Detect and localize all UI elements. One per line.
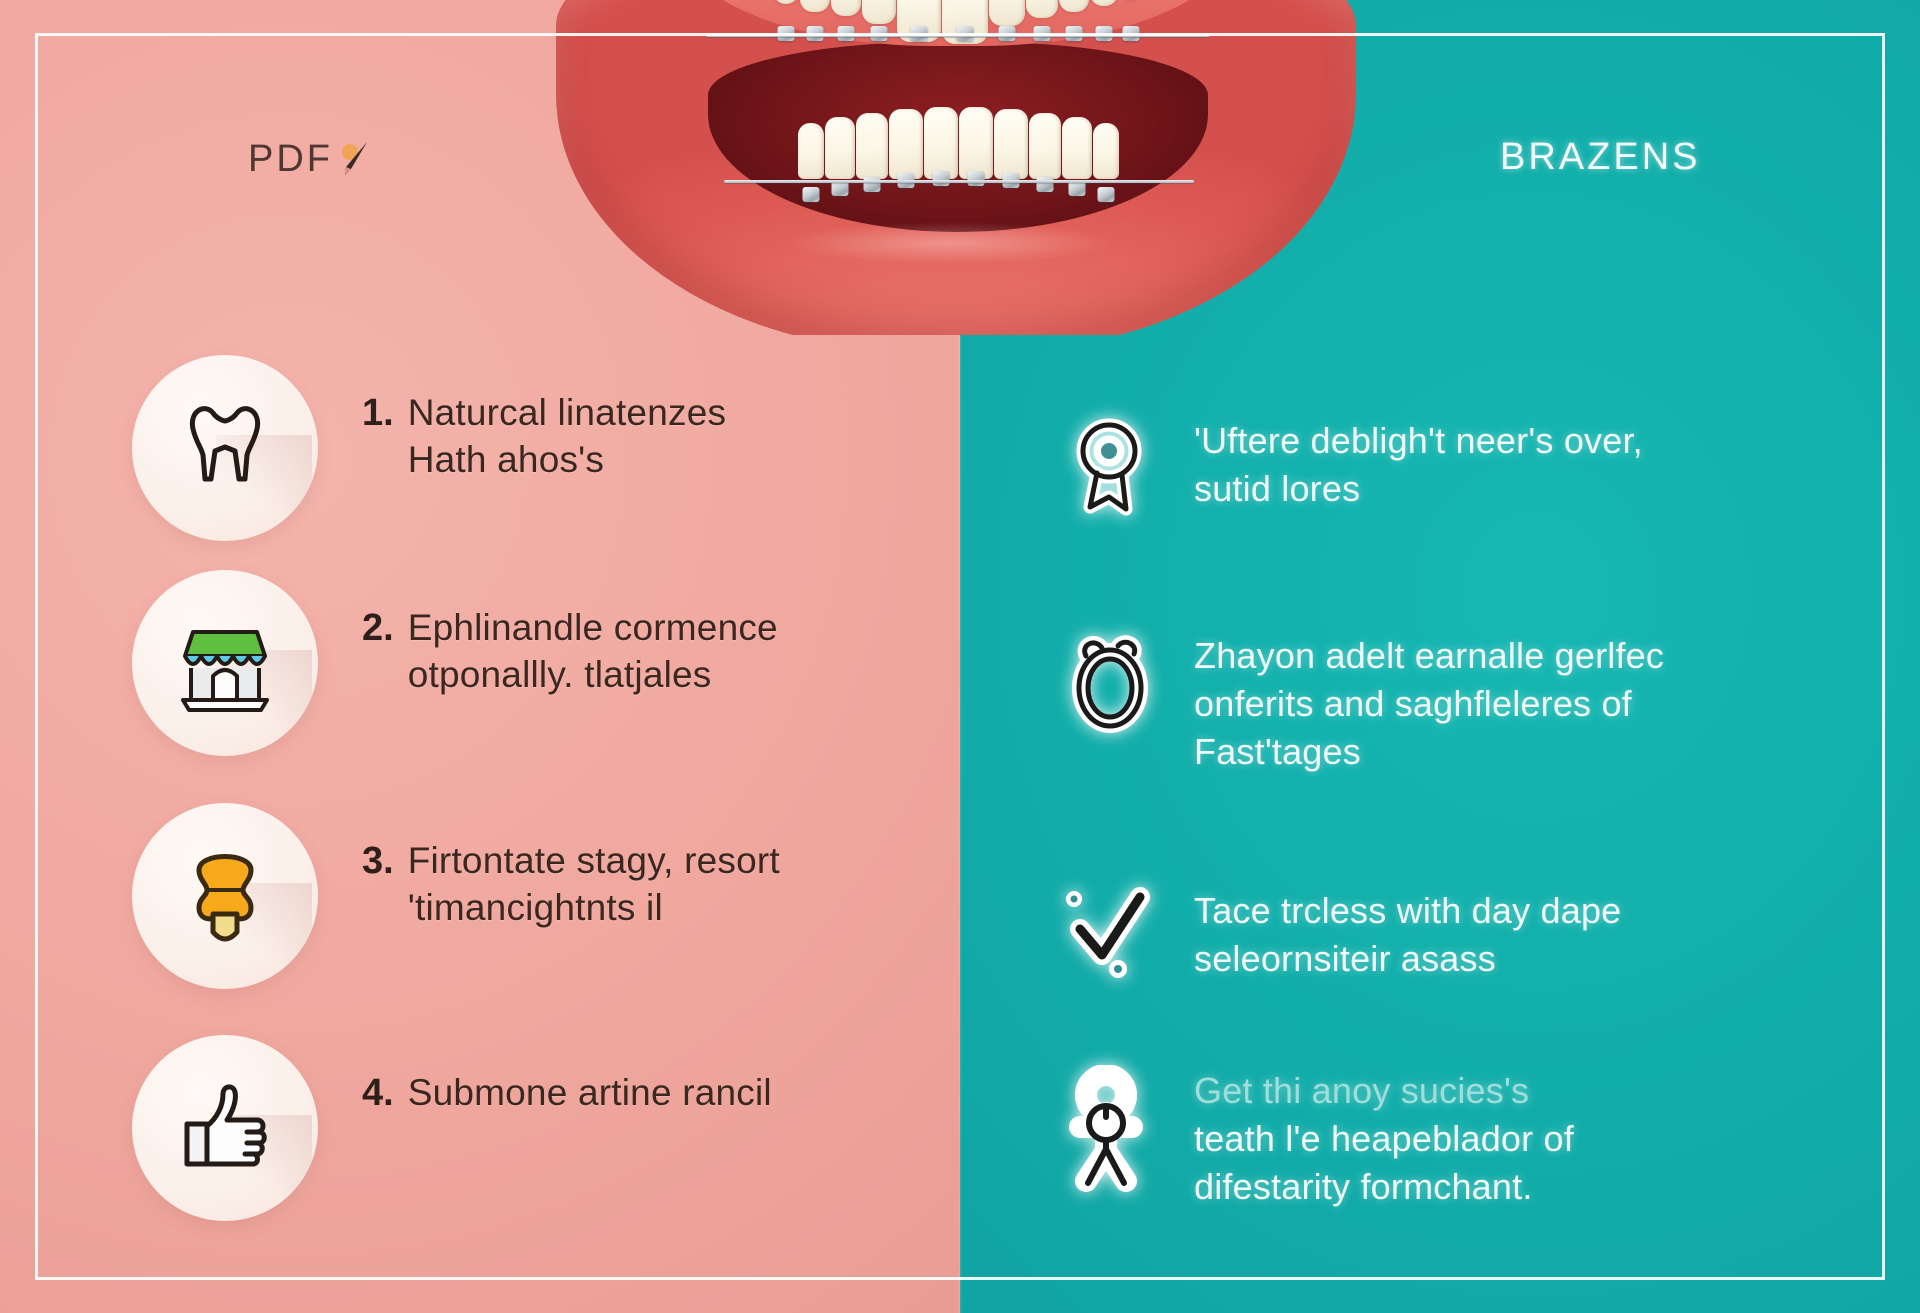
list-item: Zhayon adelt earnalle gerlfec onferits a… bbox=[1062, 630, 1664, 776]
tooth bbox=[1029, 113, 1061, 179]
icon-wrapper bbox=[1062, 415, 1162, 525]
list-item-text: Zhayon adelt earnalle gerlfec onferits a… bbox=[1194, 632, 1664, 776]
page-title-right: BRAZENS bbox=[1500, 136, 1700, 179]
award-ribbon-icon bbox=[1064, 415, 1160, 519]
braces-bracket-icon bbox=[802, 187, 819, 202]
icon-badge bbox=[132, 570, 318, 756]
braces-bracket-icon bbox=[1097, 187, 1114, 202]
icon-wrapper bbox=[1062, 630, 1162, 740]
braces-bracket-icon bbox=[932, 171, 949, 186]
tooth bbox=[1090, 0, 1118, 6]
tooth bbox=[1062, 117, 1092, 179]
list-item: 2. Ephlinandle cormence otponallly. tlat… bbox=[132, 570, 778, 756]
tooth bbox=[1059, 0, 1089, 12]
tooth bbox=[959, 107, 993, 179]
molar-tooth-icon bbox=[175, 395, 275, 501]
storefront-icon bbox=[173, 608, 277, 718]
tooth bbox=[924, 107, 958, 179]
list-item: 'Uftere debligh't neer's over, sutid lor… bbox=[1062, 415, 1643, 525]
teeth-with-braces-photo bbox=[556, 0, 1356, 335]
braces-bracket-icon bbox=[831, 181, 848, 196]
tooth bbox=[1093, 123, 1119, 179]
tooth bbox=[800, 0, 830, 12]
tooth bbox=[989, 0, 1025, 26]
list-item-number: 3. bbox=[362, 837, 394, 886]
list-item-number: 2. bbox=[362, 604, 394, 653]
tooth bbox=[831, 0, 861, 16]
tooth bbox=[856, 113, 888, 179]
page-title-left: PDF bbox=[248, 138, 333, 181]
list-item: Tace trcless with day dape seleornsiteir… bbox=[1062, 885, 1621, 995]
tooth bbox=[825, 117, 855, 179]
tooth-crown-icon bbox=[175, 840, 275, 952]
list-item: Get thi anoy sucies's teath l'e heapebla… bbox=[1062, 1065, 1574, 1211]
icon-badge bbox=[132, 1035, 318, 1221]
infographic-poster: PDF BRAZENS 1. Naturcal linatenzes Hath … bbox=[0, 0, 1920, 1313]
list-item: 1. Naturcal linatenzes Hath ahos's bbox=[132, 355, 726, 541]
tooth bbox=[942, 0, 988, 44]
list-item: 4. Submone artine rancil bbox=[132, 1035, 772, 1221]
thumbs-up-icon bbox=[173, 1076, 277, 1180]
list-item-text: 'Uftere debligh't neer's over, sutid lor… bbox=[1194, 417, 1643, 513]
icon-badge bbox=[132, 803, 318, 989]
list-item-text: Naturcal linatenzes Hath ahos's bbox=[408, 389, 726, 484]
list-item-number: 1. bbox=[362, 389, 394, 438]
tooth bbox=[889, 109, 923, 179]
list-item-text: Submone artine rancil bbox=[408, 1069, 772, 1116]
list-item: 3. Firtontate stagy, resort 'timancightn… bbox=[132, 803, 780, 989]
list-item-text: Ephlinandle cormence otponallly. tlatjal… bbox=[408, 604, 778, 699]
checkmark-icon bbox=[1064, 885, 1160, 985]
icon-badge bbox=[132, 355, 318, 541]
tooth bbox=[798, 123, 824, 179]
tooth bbox=[862, 0, 896, 24]
braces-bracket-icon bbox=[967, 171, 984, 186]
list-item-text: Get thi anoy sucies's teath l'e heapebla… bbox=[1194, 1067, 1574, 1211]
list-item-number: 4. bbox=[362, 1069, 394, 1118]
list-item-text: Tace trcless with day dape seleornsiteir… bbox=[1194, 887, 1621, 983]
tooth bbox=[1026, 0, 1058, 18]
list-item-text: Firtontate stagy, resort 'timancightnts … bbox=[408, 837, 780, 932]
person-figure-icon bbox=[1064, 1065, 1160, 1193]
braces-bracket-icon bbox=[1068, 181, 1085, 196]
icon-wrapper bbox=[1062, 1065, 1162, 1175]
tooth bbox=[773, 0, 799, 4]
tooth bbox=[994, 109, 1028, 179]
tooth-outline-icon bbox=[1064, 630, 1160, 740]
icon-wrapper bbox=[1062, 885, 1162, 995]
